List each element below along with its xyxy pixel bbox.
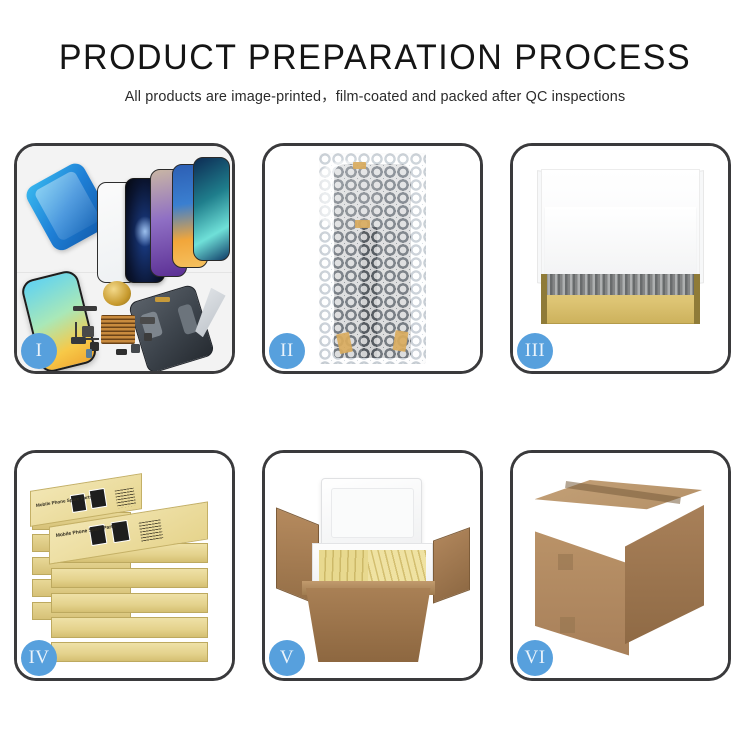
component-chip-icon [71, 337, 86, 344]
step-badge-4: IV [21, 640, 57, 676]
component-chip-icon [131, 344, 140, 353]
stacked-box-icon [51, 642, 208, 662]
step-panel-4: Mobile Phone Spare Parts Mobile Phone Sp… [14, 450, 235, 681]
step-badge-5: V [269, 640, 305, 676]
step-panel-3: III [510, 143, 731, 374]
step-panel-5: V [262, 450, 483, 681]
phone-display-teal-icon [193, 157, 230, 261]
step-badge-3: III [517, 333, 553, 369]
vibration-motor-icon [103, 281, 131, 306]
component-chip-icon [73, 306, 97, 311]
box-corner-right-icon [694, 274, 700, 324]
carton-tape-patch-icon [560, 617, 575, 633]
step-panel-1: I [14, 143, 235, 374]
box-spec-text-lines [115, 488, 137, 509]
component-chip-icon [116, 349, 127, 356]
stacked-box-icon [51, 617, 208, 637]
component-chip-icon [86, 349, 92, 358]
header: PRODUCT PREPARATION PROCESS All products… [0, 38, 750, 107]
step-badge-1: I [21, 333, 57, 369]
stacked-box-icon [51, 593, 208, 613]
chip-array-icon [101, 315, 135, 344]
component-chip-icon [82, 326, 95, 337]
step-badge-2: II [269, 333, 305, 369]
component-chip-icon [144, 333, 153, 341]
bubble-wrap-overlay-icon [319, 153, 427, 365]
carton-flap-right-icon [433, 527, 470, 603]
carton-tape-patch-icon [558, 554, 573, 570]
tape-strip-icon [353, 162, 366, 169]
page-subtitle: All products are image-printed，film-coat… [0, 87, 750, 107]
component-chip-icon [140, 317, 155, 324]
box-spec-text-lines [138, 519, 162, 542]
foam-sheet-icon [545, 207, 696, 279]
page-root: PRODUCT PREPARATION PROCESS All products… [0, 0, 750, 750]
stacked-box-icon [51, 568, 208, 588]
box-corner-left-icon [541, 274, 547, 324]
foam-box-lid-icon [321, 478, 422, 548]
page-title: PRODUCT PREPARATION PROCESS [11, 38, 739, 78]
grey-bubble-wrap-icon [545, 274, 696, 294]
process-steps-grid: I II [14, 143, 732, 681]
tape-strip-icon [355, 220, 370, 228]
step-badge-6: VI [517, 640, 553, 676]
component-chip-icon [155, 297, 170, 303]
step-panel-6: VI [510, 450, 731, 681]
carton-body-icon [306, 588, 431, 662]
box-artwork-screen-icon [110, 519, 130, 543]
step-panel-2: II [262, 143, 483, 374]
